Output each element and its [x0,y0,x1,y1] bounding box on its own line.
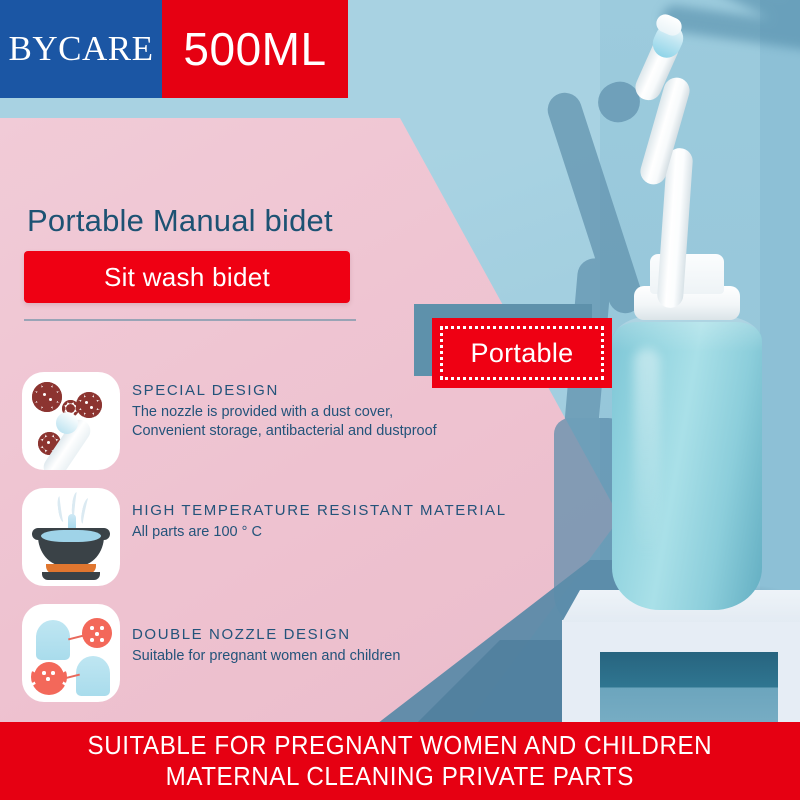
brand-name: BYCARE [9,29,154,69]
badge-label: Portable [471,338,574,369]
boiling-pot-icon [22,488,120,586]
feature-item: HIGH TEMPERATURE RESISTANT MATERIAL All … [22,488,542,586]
feature-item: DOUBLE NOZZLE DESIGN Suitable for pregna… [22,604,542,702]
brand-logo-block: BYCARE [0,0,162,98]
page-title: Portable Manual bidet [27,203,333,239]
bidet-nozzle [600,28,730,298]
pedestal-stool [562,590,800,730]
volume-label: 500ML [183,22,326,76]
product-listing-image: BYCARE 500ML Portable Manual bidet Sit w… [0,0,800,800]
bottom-banner-line-2: MATERNAL CLEANING PRIVATE PARTS [166,761,634,792]
bottom-banner: SUITABLE FOR PREGNANT WOMEN AND CHILDREN… [0,722,800,800]
germs-nozzle-icon [22,372,120,470]
feature-list: SPECIAL DESIGN The nozzle is provided wi… [22,372,542,720]
feature-text: SPECIAL DESIGN The nozzle is provided wi… [120,372,437,441]
feature-line-2: Convenient storage, antibacterial and du… [132,422,437,441]
volume-block: 500ML [162,0,348,98]
feature-text: HIGH TEMPERATURE RESISTANT MATERIAL All … [120,488,507,542]
feature-line-1: The nozzle is provided with a dust cover… [132,403,437,422]
feature-title: HIGH TEMPERATURE RESISTANT MATERIAL [132,502,507,519]
feature-title: DOUBLE NOZZLE DESIGN [132,626,400,643]
subtitle-label: Sit wash bidet [104,262,270,293]
feature-text: DOUBLE NOZZLE DESIGN Suitable for pregna… [120,604,400,666]
divider [24,319,356,321]
subtitle-banner: Sit wash bidet [24,251,350,303]
feature-item: SPECIAL DESIGN The nozzle is provided wi… [22,372,542,470]
double-nozzle-icon [22,604,120,702]
bidet-bottle [612,300,762,610]
bottom-banner-line-1: SUITABLE FOR PREGNANT WOMEN AND CHILDREN [88,730,713,761]
feature-line-1: Suitable for pregnant women and children [132,647,400,666]
feature-line-1: All parts are 100 ° C [132,523,507,542]
feature-title: SPECIAL DESIGN [132,382,437,399]
